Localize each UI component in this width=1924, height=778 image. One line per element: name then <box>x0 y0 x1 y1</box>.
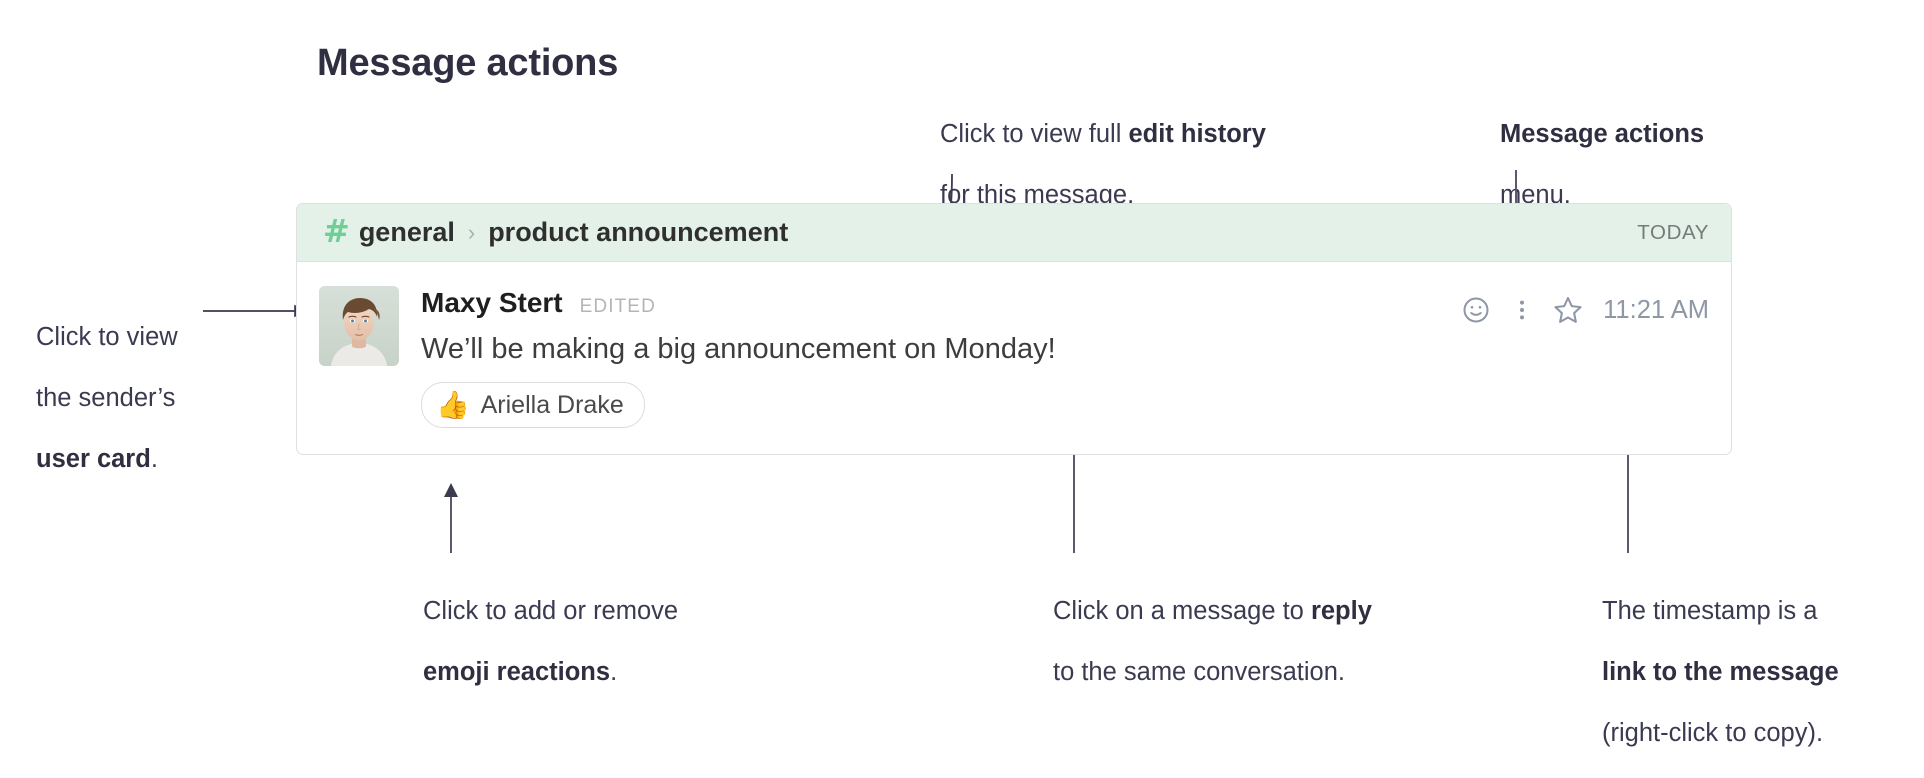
page-title: Message actions <box>317 42 618 85</box>
annotation-emphasis: link to the message <box>1602 658 1839 686</box>
stream-name[interactable]: general <box>359 217 455 248</box>
annotation-line: link to the message <box>1602 657 1839 687</box>
annotation-line: Click to view full edit history <box>940 119 1266 149</box>
annotation-line: the sender’s <box>36 383 178 413</box>
message-card: # general › product announcement TODAY <box>296 203 1732 455</box>
stream-topic-header[interactable]: # general › product announcement TODAY <box>297 204 1731 262</box>
avatar-image <box>319 286 399 366</box>
annotation-text: Click on a message to <box>1053 597 1311 625</box>
annotation-line: Click on a message to reply <box>1053 596 1372 626</box>
annotation-line: emoji reactions. <box>423 657 678 687</box>
star-icon[interactable] <box>1545 290 1591 330</box>
annotation-line: to the same conversation. <box>1053 657 1372 687</box>
annotation-text: Click to view full <box>940 120 1128 148</box>
annotation-emphasis: emoji reactions <box>423 658 610 686</box>
annotation-timestamp: The timestamp is a link to the message (… <box>1602 566 1839 778</box>
annotation-text: . <box>151 445 158 473</box>
edited-label[interactable]: EDITED <box>580 296 656 318</box>
reaction-pill[interactable]: 👍 Ariella Drake <box>421 382 645 428</box>
annotation-line: Click to add or remove <box>423 596 678 626</box>
annotation-line: Click to view <box>36 322 178 352</box>
message-text[interactable]: We’ll be making a big announcement on Mo… <box>421 331 1709 367</box>
annotation-line: Message actions <box>1500 119 1704 149</box>
annotation-emphasis: edit history <box>1128 120 1265 148</box>
emoji-reaction-icon[interactable] <box>1453 290 1499 330</box>
annotation-text: . <box>610 658 617 686</box>
annotation-emphasis: reply <box>1311 597 1372 625</box>
annotation-emphasis: user card <box>36 445 151 473</box>
annotation-user-card: Click to view the sender’s user card. <box>36 292 178 504</box>
hash-icon: # <box>323 215 350 247</box>
annotation-line: The timestamp is a <box>1602 596 1839 626</box>
chevron-right-icon: › <box>468 222 475 244</box>
reaction-list: 👍 Ariella Drake <box>421 382 1709 428</box>
message-row[interactable]: Maxy Stert EDITED We’ll be making a big … <box>297 262 1731 454</box>
avatar[interactable] <box>319 286 399 366</box>
annotation-emoji-reactions: Click to add or remove emoji reactions. <box>423 566 678 718</box>
thumbs-up-icon: 👍 <box>436 392 470 419</box>
date-label[interactable]: TODAY <box>1637 221 1709 245</box>
topic-name[interactable]: product announcement <box>488 217 788 248</box>
annotation-emphasis: Message actions <box>1500 120 1704 148</box>
annotation-reply: Click on a message to reply to the same … <box>1053 566 1372 718</box>
message-actions-menu-icon[interactable] <box>1499 290 1545 330</box>
sender-name[interactable]: Maxy Stert <box>421 287 563 319</box>
message-action-controls: 11:21 AM <box>1453 290 1709 330</box>
message-timestamp[interactable]: 11:21 AM <box>1603 296 1709 325</box>
reaction-label: Ariella Drake <box>481 391 624 420</box>
annotation-line: (right-click to copy). <box>1602 718 1839 748</box>
annotation-line: user card. <box>36 444 178 474</box>
